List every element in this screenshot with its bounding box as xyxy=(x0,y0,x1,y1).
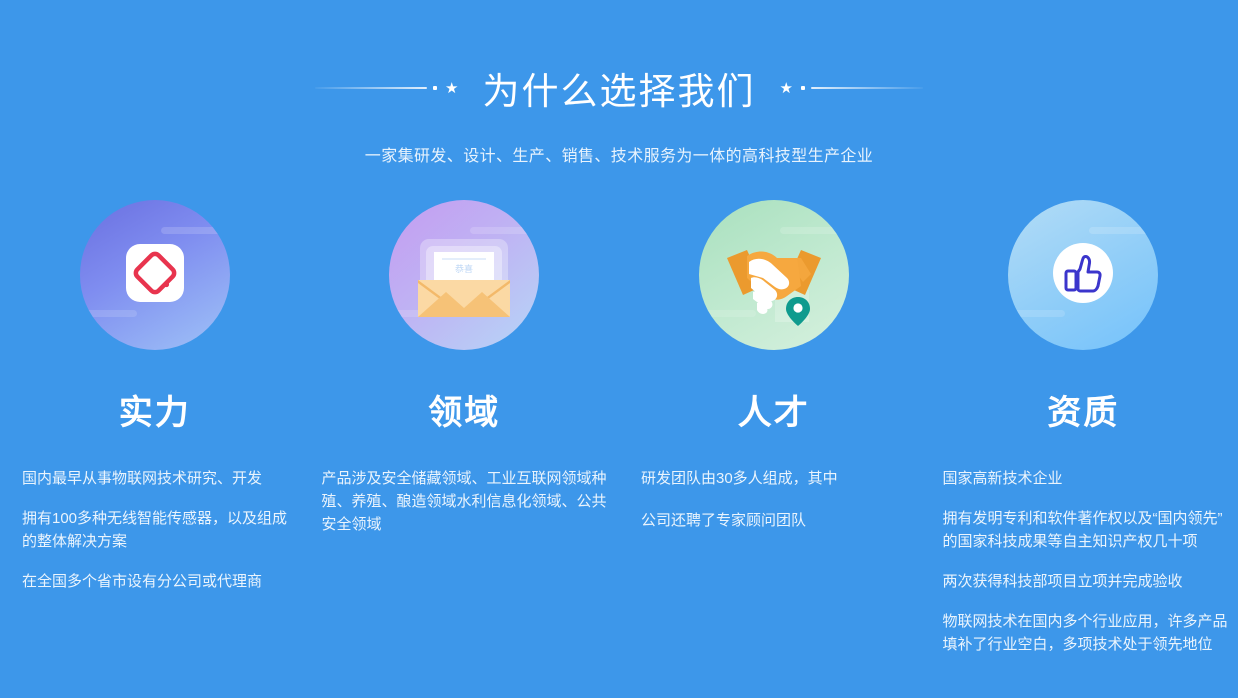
left-decoration: ★ xyxy=(315,78,460,98)
icon-wrap xyxy=(1008,200,1158,350)
diamond-gem-icon xyxy=(126,244,184,307)
why-choose-us-section: ★ 为什么选择我们 ★ 一家集研发、设计、生产、销售、技术服务为一体的高科技型生… xyxy=(0,0,1238,698)
envelope-letter-icon: 恭喜 xyxy=(401,210,527,341)
feature-column-field: 恭喜 领域 产品涉及安全储藏领域、工业互联网领域种殖、养殖、酿造领域水利信息化领… xyxy=(310,200,620,673)
list-item: 国内最早从事物联网技术研究、开发 xyxy=(22,467,300,490)
handshake-icon xyxy=(713,212,835,339)
thumbs-up-icon xyxy=(1053,243,1113,308)
title-row: ★ 为什么选择我们 ★ xyxy=(0,60,1238,116)
section-header: ★ 为什么选择我们 ★ 一家集研发、设计、生产、销售、技术服务为一体的高科技型生… xyxy=(0,60,1238,166)
decoration-line-icon xyxy=(811,87,923,89)
list-item: 国家高新技术企业 xyxy=(943,467,1235,490)
list-item: 两次获得科技部项目立项并完成验收 xyxy=(943,570,1235,593)
page-subtitle: 一家集研发、设计、生产、销售、技术服务为一体的高科技型生产企业 xyxy=(0,142,1238,166)
column-text-list: 研发团队由30多人组成，其中 公司还聘了专家顾问团队 xyxy=(619,452,929,551)
list-item: 研发团队由30多人组成，其中 xyxy=(641,467,919,490)
list-item: 拥有100多种无线智能传感器，以及组成的整体解决方案 xyxy=(22,507,300,553)
feature-column-strength: 实力 国内最早从事物联网技术研究、开发 拥有100多种无线智能传感器，以及组成的… xyxy=(0,200,310,673)
decoration-line-icon xyxy=(315,87,427,89)
icon-wrap xyxy=(80,200,230,350)
letter-text: 恭喜 xyxy=(455,263,473,274)
icon-wrap: 恭喜 xyxy=(389,200,539,350)
decoration-dot-icon xyxy=(801,86,805,90)
right-decoration: ★ xyxy=(778,78,923,98)
column-text-list: 产品涉及安全储藏领域、工业互联网领域种殖、养殖、酿造领域水利信息化领域、公共安全… xyxy=(310,452,620,553)
list-item: 产品涉及安全储藏领域、工业互联网领域种殖、养殖、酿造领域水利信息化领域、公共安全… xyxy=(322,467,614,536)
list-item: 公司还聘了专家顾问团队 xyxy=(641,509,919,532)
icon-wrap xyxy=(699,200,849,350)
column-text-list: 国家高新技术企业 拥有发明专利和软件著作权以及“国内领先”的国家科技成果等自主知… xyxy=(929,452,1238,673)
list-item: 物联网技术在国内多个行业应用，许多产品填补了行业空白，多项技术处于领先地位 xyxy=(943,610,1235,656)
feature-columns: 实力 国内最早从事物联网技术研究、开发 拥有100多种无线智能传感器，以及组成的… xyxy=(0,200,1238,673)
star-icon: ★ xyxy=(780,81,793,96)
star-icon: ★ xyxy=(445,81,458,96)
list-item: 拥有发明专利和软件著作权以及“国内领先”的国家科技成果等自主知识产权几十项 xyxy=(943,507,1235,553)
decoration-dot-icon xyxy=(433,86,437,90)
column-heading: 资质 xyxy=(1047,385,1119,434)
column-heading: 领域 xyxy=(428,385,500,434)
feature-column-talent: 人才 研发团队由30多人组成，其中 公司还聘了专家顾问团队 xyxy=(619,200,929,673)
column-heading: 实力 xyxy=(119,385,191,434)
feature-column-certification: 资质 国家高新技术企业 拥有发明专利和软件著作权以及“国内领先”的国家科技成果等… xyxy=(929,200,1238,673)
list-item: 在全国多个省市设有分公司或代理商 xyxy=(22,570,300,593)
column-heading: 人才 xyxy=(738,385,810,434)
column-text-list: 国内最早从事物联网技术研究、开发 拥有100多种无线智能传感器，以及组成的整体解… xyxy=(0,452,310,610)
page-title: 为什么选择我们 xyxy=(483,61,756,115)
